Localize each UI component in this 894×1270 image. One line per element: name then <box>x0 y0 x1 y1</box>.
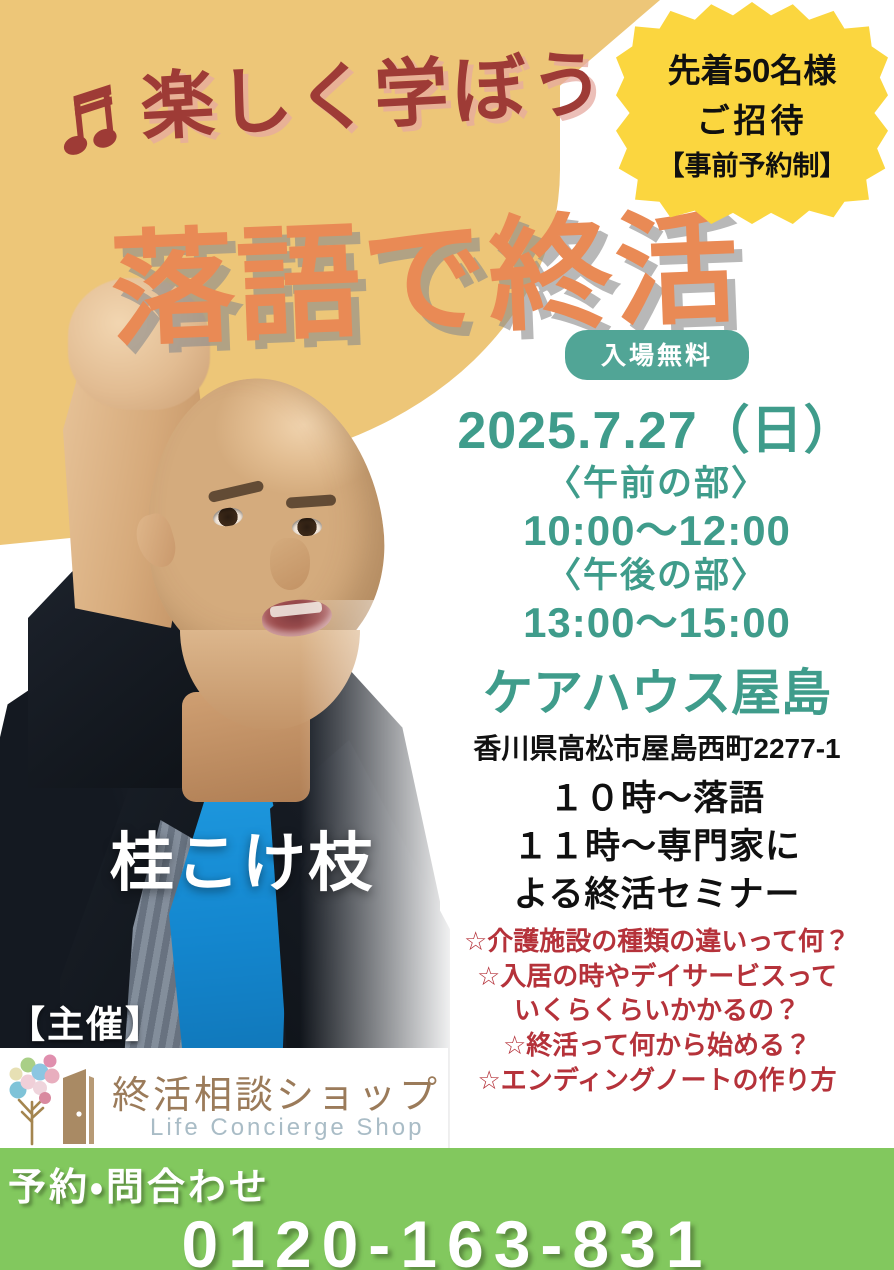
event-date: 2025.7.27（日） <box>420 388 894 463</box>
contact-band: 予約・問合わせ 0120-163-831 <box>0 1148 894 1270</box>
badge-line-2: ご招待 <box>697 94 808 142</box>
status-badge: 先着50名様 ご招待 【事前予約制】 <box>616 2 888 224</box>
music-note-icon <box>62 80 132 160</box>
list-item: ☆介護施設の種類の違いって何？ <box>420 924 894 959</box>
program-line-1: １０時〜落語 <box>420 775 894 823</box>
program-schedule: １０時〜落語 １１時〜専門家に よる終活セミナー <box>420 775 894 918</box>
event-poster: 楽しく学ぼう 落語で終活 先着50名様 ご招待 【事前予約制】 入場無料 202… <box>0 0 894 1270</box>
list-item: ☆エンディングノートの作り方 <box>420 1063 894 1098</box>
badge-line-1: 先着50名様 <box>668 44 837 92</box>
venue-name: ケアハウス屋島 <box>420 653 894 725</box>
admission-badge: 入場無料 <box>565 330 749 380</box>
host-label: 【主催】 <box>8 994 164 1048</box>
sponsor-logo: 終活相談ショップ Life Concierge Shop <box>0 1048 448 1150</box>
contact-label: 予約・問合わせ <box>8 1156 270 1211</box>
tree-and-door-icon <box>6 1052 114 1146</box>
contact-phone[interactable]: 0120-163-831 <box>0 1206 894 1270</box>
sponsor-subtitle: Life Concierge Shop <box>150 1114 424 1142</box>
session-time-morning: 10:00〜12:00 <box>420 506 894 556</box>
session-time-afternoon: 13:00〜15:00 <box>420 598 894 648</box>
list-item: いくらくらいかかるの？ <box>420 993 894 1028</box>
session-label-morning: 〈午前の部〉 <box>420 463 894 506</box>
list-item: ☆終活って何から始める？ <box>420 1028 894 1063</box>
performer-name: 桂こけ枝 <box>110 812 374 904</box>
program-line-2: １１時〜専門家に <box>420 823 894 871</box>
event-details: 入場無料 2025.7.27（日） 〈午前の部〉 10:00〜12:00 〈午後… <box>420 330 894 1097</box>
program-line-3: よる終活セミナー <box>420 871 894 919</box>
list-item: ☆入居の時やデイサービスって <box>420 959 894 994</box>
session-label-afternoon: 〈午後の部〉 <box>420 555 894 598</box>
photo-nose <box>270 538 310 590</box>
topic-list: ☆介護施設の種類の違いって何？ ☆入居の時やデイサービスって いくらくらいかかる… <box>420 924 894 1097</box>
sponsor-name: 終活相談ショップ <box>112 1064 440 1119</box>
venue-address: 香川県高松市屋島西町2277-1 <box>420 727 894 767</box>
badge-line-3: 【事前予約制】 <box>658 144 847 183</box>
